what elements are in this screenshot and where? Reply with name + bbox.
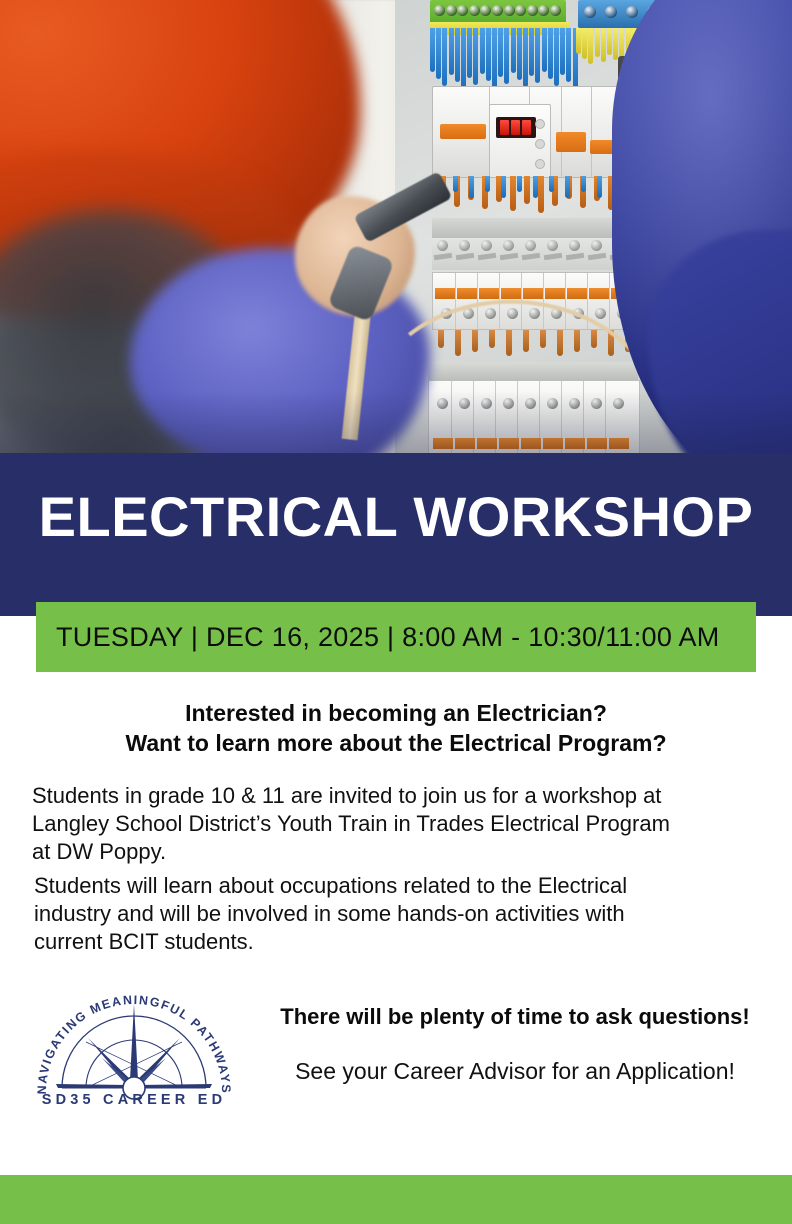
sd35-career-ed-logo: NAVIGATING MEANINGFUL PATHWAYS SD35 CARE… (28, 988, 240, 1106)
closing-bold-line: There will be plenty of time to ask ques… (250, 1004, 780, 1030)
headline-line-2: Want to learn more about the Electrical … (0, 728, 792, 758)
compass-logo-icon: NAVIGATING MEANINGFUL PATHWAYS SD35 CARE… (28, 988, 240, 1106)
paragraph-one-line-2: Langley School District’s Youth Train in… (32, 810, 760, 838)
paragraph-two-line-3: current BCIT students. (34, 928, 762, 956)
poster: ELECTRICAL WORKSHOP TUESDAY | DEC 16, 20… (0, 0, 792, 1224)
paragraph-two: Students will learn about occupations re… (34, 872, 762, 956)
paragraph-one-line-1: Students in grade 10 & 11 are invited to… (32, 782, 760, 810)
title-band: ELECTRICAL WORKSHOP (0, 453, 792, 616)
footer-green-bar (0, 1175, 792, 1224)
photo-bottom-shade (0, 0, 792, 455)
date-time-text: TUESDAY | DEC 16, 2025 | 8:00 AM - 10:30… (36, 622, 720, 653)
hero-photo (0, 0, 792, 455)
headline-block: Interested in becoming an Electrician? W… (0, 698, 792, 759)
paragraph-two-line-1: Students will learn about occupations re… (34, 872, 762, 900)
paragraph-one: Students in grade 10 & 11 are invited to… (32, 782, 760, 866)
logo-base-text: SD35 CAREER ED (42, 1092, 227, 1106)
headline-line-1: Interested in becoming an Electrician? (0, 698, 792, 728)
closing-regular-line: See your Career Advisor for an Applicati… (250, 1058, 780, 1085)
date-time-banner: TUESDAY | DEC 16, 2025 | 8:00 AM - 10:30… (36, 602, 756, 672)
paragraph-one-line-3: at DW Poppy. (32, 838, 760, 866)
page-title: ELECTRICAL WORKSHOP (0, 489, 792, 545)
paragraph-two-line-2: industry and will be involved in some ha… (34, 900, 762, 928)
